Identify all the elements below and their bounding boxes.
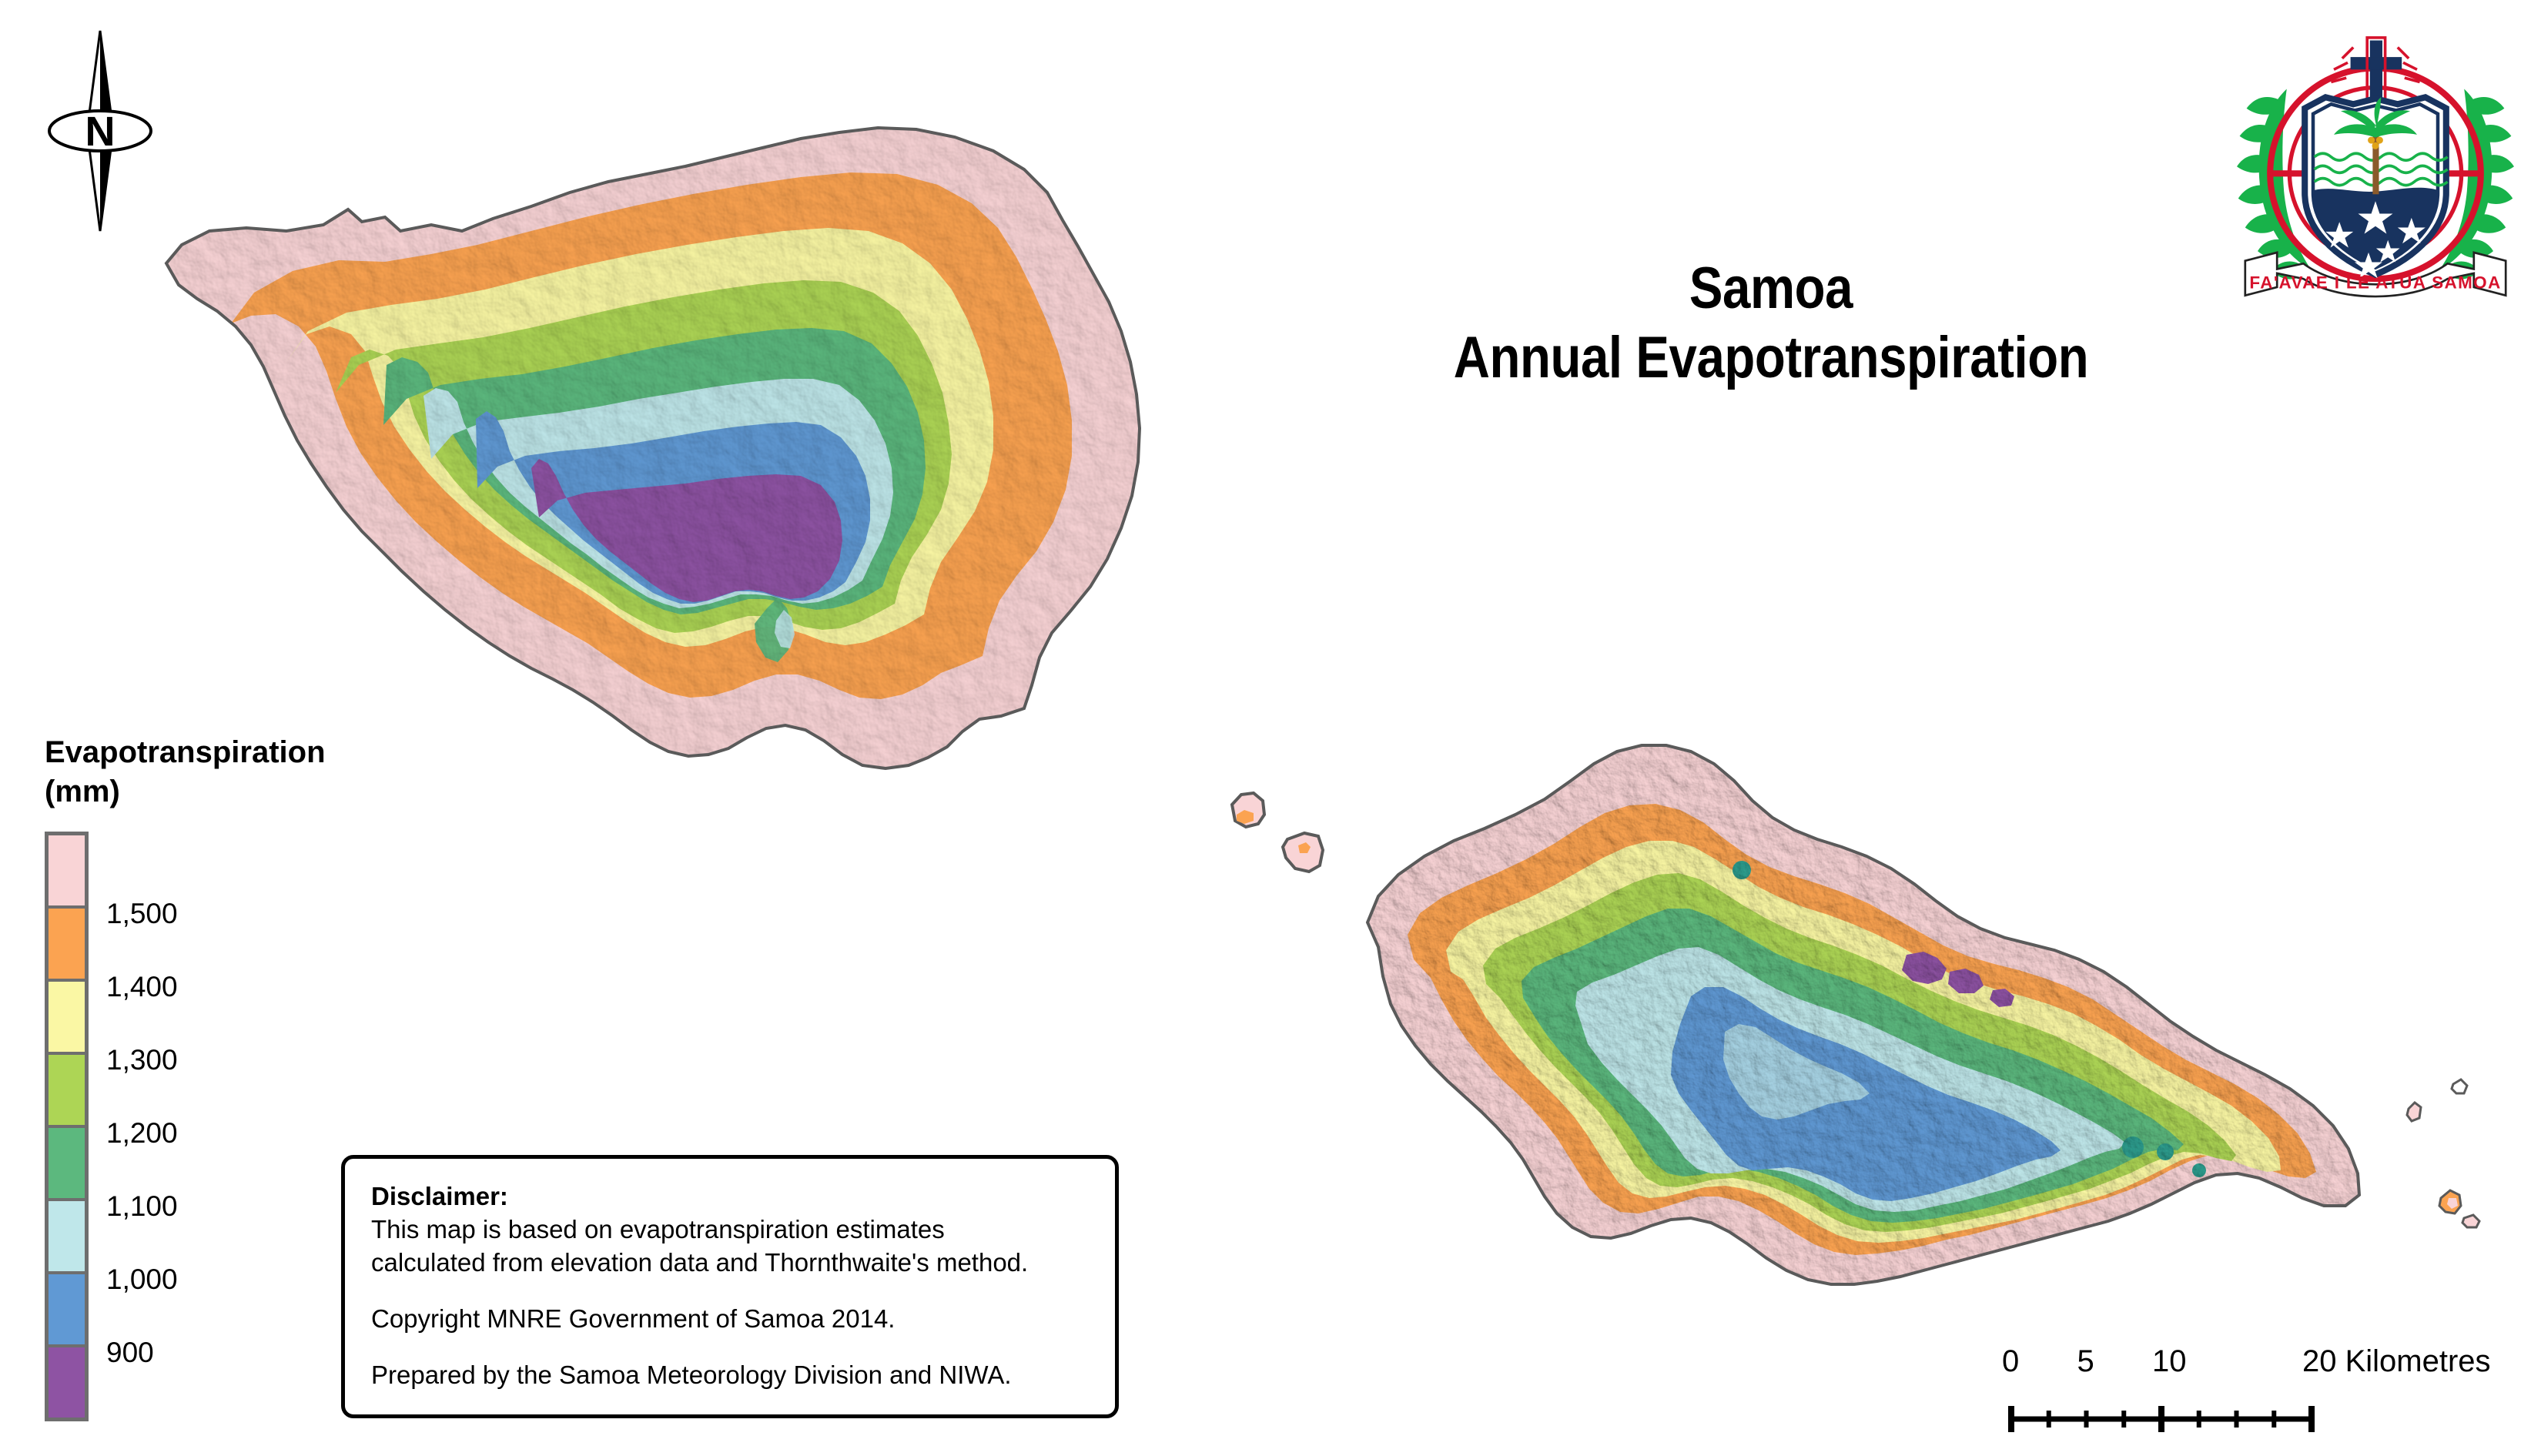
scale-label-10: 10: [2152, 1346, 2187, 1377]
disclaimer-heading: Disclaimer:: [371, 1180, 1089, 1213]
scale-bar: 051020 Kilometres: [2002, 1346, 2495, 1438]
legend-label-1500: 1,500: [106, 899, 178, 928]
legend-swatch-top: [49, 835, 85, 905]
legend-swatch-1,300: [49, 1052, 85, 1125]
legend-label-1400: 1,400: [106, 972, 178, 1001]
page-title: Samoa Annual Evapotranspiration: [1374, 254, 2168, 392]
samoa-coat-of-arms: FA'AVAE I LE ATUA SAMOA: [2237, 19, 2514, 304]
north-arrow-icon: N: [42, 23, 158, 239]
legend-swatch-1,400: [49, 979, 85, 1052]
legend-label-1300: 1,300: [106, 1046, 178, 1074]
scale-bar-labels: 051020 Kilometres: [2002, 1346, 2495, 1384]
fanuatapu-islet: [2407, 1103, 2421, 1121]
legend-swatch-1,100: [49, 1198, 85, 1271]
scale-bar-graphic: [2002, 1386, 2333, 1432]
disclaimer-prepared-by: Prepared by the Samoa Meteorology Divisi…: [371, 1359, 1089, 1392]
nuulua-islet: [2462, 1215, 2479, 1227]
disclaimer-box: Disclaimer: This map is based on evapotr…: [341, 1155, 1119, 1418]
legend-swatch-1,000: [49, 1271, 85, 1344]
disclaimer-spacer-1: [371, 1280, 1089, 1303]
disclaimer-line-2: calculated from elevation data and Thorn…: [371, 1247, 1089, 1280]
disclaimer-spacer-2: [371, 1336, 1089, 1359]
scale-label-0: 0: [2002, 1346, 2019, 1377]
disclaimer-copyright: Copyright MNRE Government of Samoa 2014.: [371, 1303, 1089, 1336]
legend-label-900: 900: [106, 1338, 154, 1367]
disclaimer-line-1: This map is based on evapotranspiration …: [371, 1213, 1089, 1247]
coat-of-arms-motto: FA'AVAE I LE ATUA SAMOA: [2249, 273, 2501, 293]
legend-title: Evapotranspiration (mm): [45, 733, 476, 812]
legend-swatch-1,200: [49, 1125, 85, 1198]
legend-swatch-900: [49, 1344, 85, 1418]
upolu-island: [1355, 731, 2372, 1301]
legend-color-ramp: [45, 832, 89, 1421]
apolima-island: [1232, 793, 1264, 827]
scale-label-5: 5: [2077, 1346, 2094, 1377]
title-line-2: Annual Evapotranspiration: [1374, 323, 2168, 393]
legend-label-1000: 1,000: [106, 1265, 178, 1294]
legend-label-1100: 1,100: [106, 1192, 178, 1220]
north-arrow-label: N: [85, 109, 115, 155]
namua-islet: [2452, 1079, 2467, 1093]
manono-island: [1283, 833, 1323, 872]
nuutele-islet: [2439, 1190, 2461, 1213]
savaii-island: [139, 108, 1186, 801]
legend-swatch-1,500: [49, 905, 85, 979]
title-line-1: Samoa: [1374, 254, 2168, 323]
scale-label-20: 20 Kilometres: [2302, 1346, 2491, 1377]
legend-label-1200: 1,200: [106, 1119, 178, 1147]
